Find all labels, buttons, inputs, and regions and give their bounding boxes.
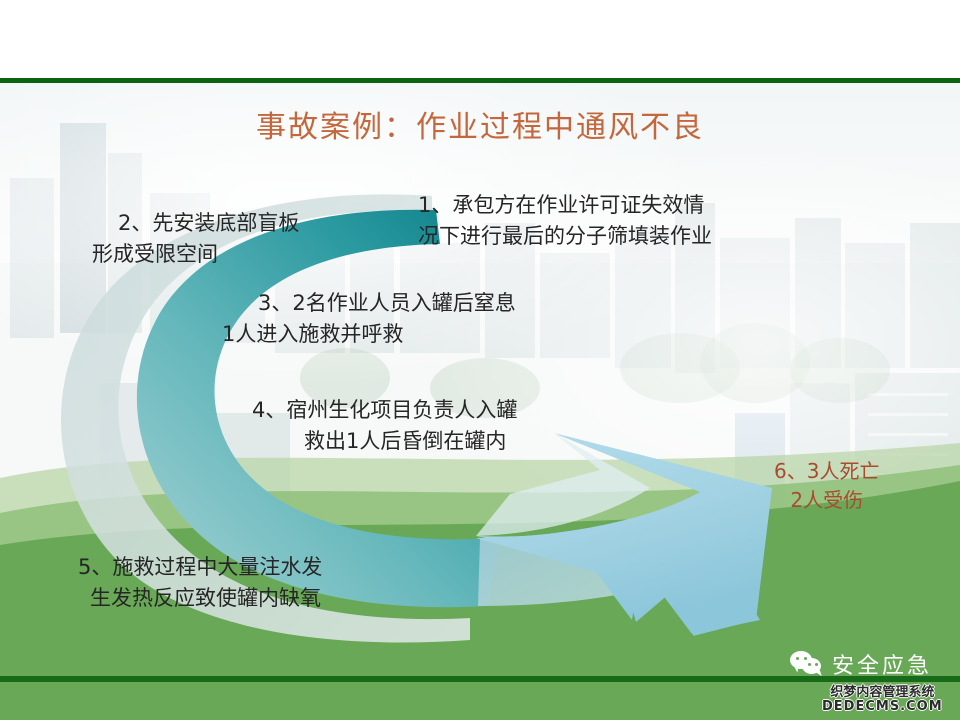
wechat-tail-small — [815, 670, 822, 677]
wechat-eye-dot — [796, 657, 799, 660]
wechat-icon — [790, 651, 824, 677]
step-6-line-2: 2人受伤 — [774, 486, 879, 515]
watermark: 织梦内容管理系统 DEDECMS.COM — [822, 686, 943, 713]
footer-logo-text: 安全应急 — [832, 648, 932, 680]
step-2-line-1: 2、先安装底部盲板 — [118, 208, 299, 239]
step-4-line-2: 救出1人后昏倒在罐内 — [304, 426, 517, 457]
step-1-line-2: 况下进行最后的分子筛填装作业 — [418, 221, 712, 252]
step-label-1: 1、承包方在作业许可证失效情 况下进行最后的分子筛填装作业 — [418, 190, 712, 252]
page-title: 事故案例：作业过程中通风不良 — [0, 102, 960, 146]
step-2-line-2: 形成受限空间 — [92, 239, 299, 270]
slide-canvas: 事故案例：作业过程中通风不良 1、承包方在作业许可证失效情 况下进行最后的分子筛… — [0, 0, 960, 720]
step-6-line-1: 6、3人死亡 — [774, 457, 879, 486]
step-label-4: 4、宿州生化项目负责人入罐 救出1人后昏倒在罐内 — [252, 395, 517, 457]
step-5-line-1: 5、施救过程中大量注水发 — [78, 552, 322, 583]
watermark-en: DEDECMS.COM — [822, 700, 943, 714]
wechat-eye-dot — [808, 663, 811, 666]
step-label-2: 2、先安装底部盲板 形成受限空间 — [92, 208, 299, 270]
wechat-eye-dot — [815, 663, 818, 666]
top-green-rule — [0, 78, 960, 83]
step-label-5: 5、施救过程中大量注水发 生发热反应致使罐内缺氧 — [78, 552, 322, 614]
step-1-line-1: 1、承包方在作业许可证失效情 — [418, 190, 712, 221]
footer-logo: 安全应急 — [790, 648, 932, 680]
wechat-eye-dot — [804, 657, 807, 660]
watermark-cn: 织梦内容管理系统 — [822, 686, 943, 700]
step-3-line-1: 3、2名作业人员入罐后窒息 — [258, 288, 516, 319]
step-5-line-2: 生发热反应致使罐内缺氧 — [90, 583, 322, 614]
wechat-tail-large — [792, 666, 798, 673]
step-label-6: 6、3人死亡 2人受伤 — [774, 457, 879, 515]
step-4-line-1: 4、宿州生化项目负责人入罐 — [252, 395, 517, 426]
step-3-line-2: 1人进入施救并呼救 — [222, 319, 516, 350]
step-label-3: 3、2名作业人员入罐后窒息 1人进入施救并呼救 — [222, 288, 516, 350]
bottom-green-band — [0, 682, 960, 720]
top-white-margin — [0, 0, 960, 78]
